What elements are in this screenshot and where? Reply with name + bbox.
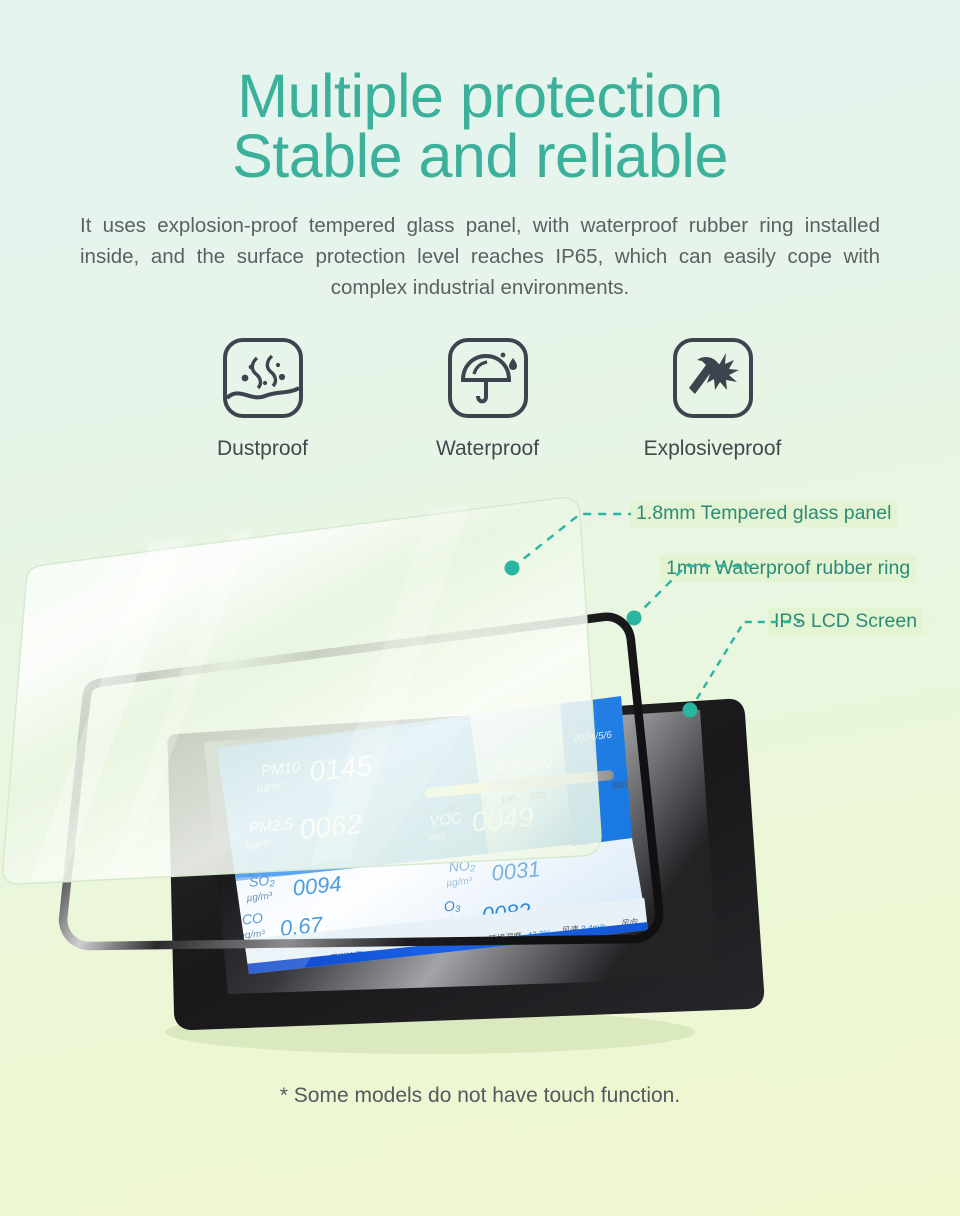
feature-dustproof: Dustproof [150,336,375,461]
leader-line-screen [690,622,800,710]
hero-section: Multiple protection Stable and reliable … [0,0,960,303]
glass-panel [3,498,601,884]
feature-label: Waterproof [375,437,600,461]
page-title-line-1: Multiple protection [237,62,723,130]
aqi-tick: 500 [612,780,628,791]
reading-name: O₃ [443,897,461,915]
callout-dot-ring [627,611,642,626]
footnote: * Some models do not have touch function… [0,1084,960,1108]
callout-dot-glass [505,561,520,576]
feature-explosiveproof: Explosiveproof [600,336,825,461]
hammer-impact-icon [671,336,755,420]
page-description: It uses explosion-proof tempered glass p… [80,210,880,303]
dustproof-icon [221,336,305,420]
page-title-line-2: Stable and reliable [0,126,960,186]
feature-list: Dustproof Waterproof Explosiveproof [150,336,830,461]
page-title: Multiple protection Stable and reliable [0,0,960,186]
feature-label: Dustproof [150,437,375,461]
feature-label: Explosiveproof [600,437,825,461]
exploded-device-illustration: AQI:100 0 50 100 150 200 300 500 2024/5/… [0,470,960,1070]
umbrella-raindrops-icon [446,336,530,420]
callout-dot-screen [683,703,698,718]
leader-line-ring [634,566,752,618]
feature-waterproof: Waterproof [375,336,600,461]
